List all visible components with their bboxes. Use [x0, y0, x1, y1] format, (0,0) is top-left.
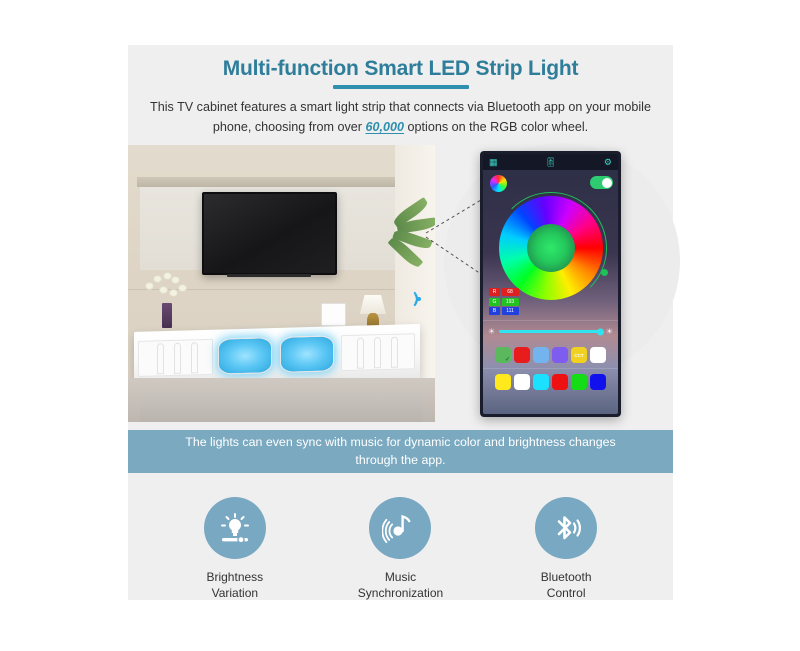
phone-mockup: ▦ 🎚 ⚙ R 68	[480, 151, 621, 417]
flower-bloom	[146, 283, 153, 289]
subtitle-highlight-count: 60,000	[365, 120, 404, 134]
sun-bright-icon: ☀	[606, 327, 613, 336]
feature-brightness-variation: Brightness Variation	[160, 497, 310, 601]
music-sync-banner: The lights can even sync with music for …	[128, 430, 673, 473]
rgb-channel-value-r: 68	[502, 288, 519, 296]
sun-dim-icon: ☀	[488, 327, 495, 336]
swatch-cyan[interactable]	[533, 374, 549, 390]
swatch-cct[interactable]: CCT	[571, 347, 587, 363]
flower-bloom	[154, 276, 161, 282]
title-underline	[333, 85, 469, 89]
feature-label-brightness: Brightness Variation	[160, 569, 310, 601]
brightness-slider[interactable]	[499, 330, 602, 333]
swatch-light-blue[interactable]	[533, 347, 549, 363]
feature-label-line2: Synchronization	[358, 586, 443, 600]
wall-shelf	[137, 177, 407, 187]
swatch-red[interactable]	[552, 374, 568, 390]
rgb-color-wheel[interactable]	[499, 196, 603, 300]
feature-label-line1: Brightness	[206, 570, 263, 584]
tv-cabinet-photo	[128, 145, 435, 422]
feature-label-line2: Variation	[212, 586, 258, 600]
swatch-purple[interactable]	[552, 347, 568, 363]
content-row: ▦ 🎚 ⚙ R 68	[128, 145, 673, 323]
flower-bloom	[164, 273, 171, 279]
bluetooth-wave-arc	[397, 288, 418, 309]
cabinet-arch-detail	[357, 338, 364, 369]
power-toggle[interactable]	[590, 176, 613, 189]
rgb-channel-label-g: G	[489, 298, 500, 306]
bluetooth-signal-indicator	[391, 286, 422, 311]
flower-bloom	[160, 287, 167, 293]
rgb-row-r: R 68	[489, 288, 519, 296]
feature-label-line1: Music	[385, 570, 416, 584]
cabinet-arch-detail	[374, 337, 381, 368]
subtitle-text: This TV cabinet features a smart light s…	[144, 98, 657, 137]
flower-bloom	[172, 277, 179, 283]
gear-icon[interactable]: ⚙	[604, 158, 612, 167]
swatch-green[interactable]	[571, 374, 587, 390]
cabinet-arch-detail	[157, 343, 164, 374]
wall-mounted-tv	[202, 192, 337, 275]
cabinet-glass-door-led-right	[280, 335, 334, 373]
cabinet-arch-detail	[191, 342, 198, 373]
brightness-bulb-slider-icon	[204, 497, 266, 559]
rgb-channel-label-r: R	[489, 288, 500, 296]
feature-list: Brightness Variation Music Synchronizati…	[128, 483, 673, 601]
rgb-channel-value-g: 193	[502, 298, 519, 306]
brightness-slider-knob[interactable]	[597, 328, 604, 335]
flower-vase	[162, 303, 172, 328]
swatch-row-1: CCT	[483, 342, 618, 368]
swatch-yellow[interactable]	[495, 374, 511, 390]
area-rug	[140, 392, 422, 422]
color-wheel-area: R 68 G 193 B 111	[483, 170, 618, 320]
feature-label-bluetooth: Bluetooth Control	[491, 569, 641, 601]
flower-bloom	[179, 285, 186, 291]
feature-label-line1: Bluetooth	[541, 570, 592, 584]
rgb-row-g: G 193	[489, 298, 519, 306]
ring-knob[interactable]	[601, 269, 608, 276]
page-title: Multi-function Smart LED Strip Light	[144, 57, 657, 81]
header-section: Multi-function Smart LED Strip Light Thi…	[128, 45, 673, 147]
phone-screen: ▦ 🎚 ⚙ R 68	[483, 154, 618, 414]
rgb-channel-label-b: B	[489, 307, 500, 315]
grid-icon[interactable]: ▦	[489, 158, 498, 167]
cabinet-glass-door-led-left	[218, 337, 272, 375]
color-mode-button[interactable]	[490, 175, 507, 192]
subtitle-part-2: options on the RGB color wheel.	[404, 120, 588, 134]
feature-music-synchronization: Music Synchronization	[325, 497, 475, 601]
brightness-slider-row: ☀ ☀	[483, 320, 618, 342]
selected-color-preview	[527, 224, 575, 272]
bluetooth-waves-icon	[535, 497, 597, 559]
feature-label-line2: Control	[547, 586, 586, 600]
rgb-row-b: B 111	[489, 307, 519, 315]
music-note-waves-icon	[369, 497, 431, 559]
swatch-white[interactable]	[590, 347, 606, 363]
swatch-red[interactable]	[514, 347, 530, 363]
swatch-white[interactable]	[514, 374, 530, 390]
picture-frame	[321, 303, 346, 327]
flower-bloom	[170, 290, 177, 296]
app-topbar: ▦ 🎚 ⚙	[483, 154, 618, 170]
feature-bluetooth-control: Bluetooth Control	[491, 497, 641, 601]
swatch-row-2	[483, 368, 618, 395]
rgb-channel-value-b: 111	[502, 307, 519, 315]
equalizer-icon[interactable]: 🎚	[545, 158, 556, 167]
rgb-value-readout: R 68 G 193 B 111	[489, 288, 519, 315]
cabinet-arch-detail	[391, 337, 398, 368]
feature-label-music: Music Synchronization	[325, 569, 475, 601]
swatch-green-selected[interactable]	[495, 347, 511, 363]
swatch-blue[interactable]	[590, 374, 606, 390]
infographic-panel: Multi-function Smart LED Strip Light Thi…	[128, 45, 673, 600]
cabinet-arch-detail	[174, 343, 181, 374]
